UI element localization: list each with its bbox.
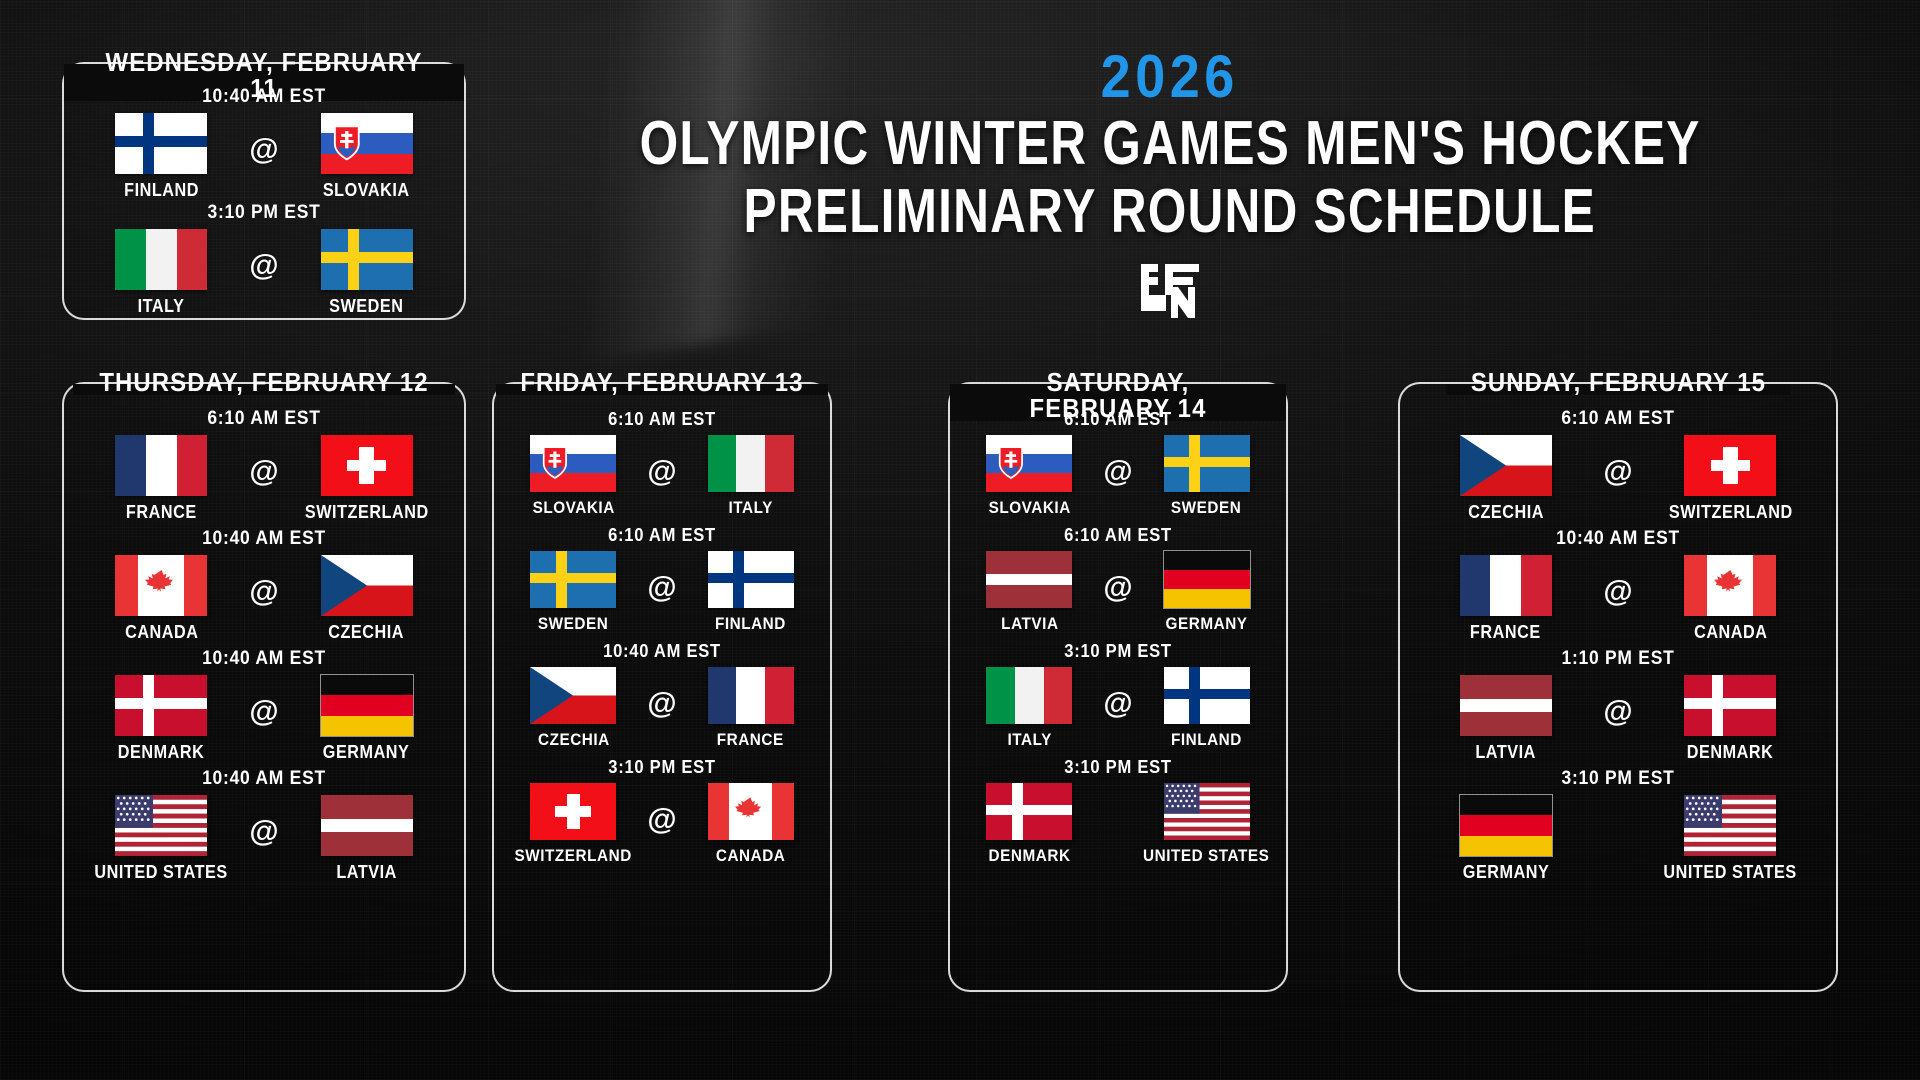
game-time: 1:10 PM EST bbox=[1427, 648, 1810, 670]
team-home[interactable]: CANADA bbox=[675, 783, 826, 866]
at-symbol-wrap: @ bbox=[1105, 435, 1131, 487]
at-symbol-wrap: @ bbox=[249, 675, 279, 727]
at-symbol-icon: @ bbox=[249, 457, 278, 487]
day-card-title-wrap: THURSDAY, FEBRUARY 12 bbox=[64, 384, 464, 395]
flag-denmark-icon bbox=[115, 675, 207, 736]
at-symbol-icon: @ bbox=[1603, 577, 1632, 607]
team-away[interactable]: FINLAND bbox=[74, 113, 249, 200]
team-name: SLOVAKIA bbox=[988, 498, 1070, 518]
game-time: 3:10 PM EST bbox=[89, 202, 439, 224]
at-symbol-icon: @ bbox=[249, 135, 278, 165]
game-time: 6:10 AM EST bbox=[967, 524, 1269, 546]
header: 2026 OLYMPIC WINTER GAMES MEN'S HOCKEY P… bbox=[460, 40, 1880, 310]
team-home[interactable]: SWEDEN bbox=[279, 229, 454, 316]
flag-finland-icon bbox=[708, 551, 794, 608]
at-symbol-wrap: @ bbox=[1105, 667, 1131, 719]
team-away[interactable]: GERMANY bbox=[1410, 795, 1601, 882]
matchup: CANADA@CZECHIA bbox=[74, 555, 454, 642]
flag-france-icon bbox=[708, 667, 794, 724]
at-symbol-icon: @ bbox=[1103, 457, 1132, 487]
day-card-body: 6:10 AM ESTCZECHIA@SWITZERLAND10:40 AM E… bbox=[1400, 384, 1836, 898]
flag-czechia-icon bbox=[530, 667, 616, 724]
game-row[interactable]: 3:10 PM ESTGERMANYUNITED STATES bbox=[1410, 768, 1826, 882]
team-name: LATVIA bbox=[336, 862, 397, 882]
matchup: FRANCE@CANADA bbox=[1410, 555, 1826, 642]
team-name: UNITED STATES bbox=[95, 862, 228, 882]
matchup: FRANCE@SWITZERLAND bbox=[74, 435, 454, 522]
flag-france-icon bbox=[1460, 555, 1552, 616]
flag-latvia-icon bbox=[986, 551, 1072, 608]
game-time: 3:10 PM EST bbox=[967, 756, 1269, 778]
team-away[interactable]: SLOVAKIA bbox=[954, 435, 1105, 518]
day-card-title: SUNDAY, FEBRUARY 15 bbox=[1470, 369, 1765, 395]
team-name: ITALY bbox=[1007, 730, 1051, 750]
flag-usa-icon bbox=[1164, 783, 1250, 840]
flag-latvia-icon bbox=[321, 795, 413, 856]
flag-italy-icon bbox=[986, 667, 1072, 724]
at-symbol-wrap bbox=[1105, 783, 1131, 805]
team-home[interactable]: ITALY bbox=[675, 435, 826, 518]
matchup: SLOVAKIA@ITALY bbox=[498, 435, 826, 518]
team-name: ITALY bbox=[728, 498, 772, 518]
at-symbol-wrap: @ bbox=[249, 435, 279, 487]
at-symbol-icon: @ bbox=[647, 805, 676, 835]
team-home[interactable]: DENMARK bbox=[1635, 675, 1826, 762]
game-row[interactable]: 10:40 AM ESTUNITED STATES@LATVIA bbox=[74, 768, 454, 882]
day-card-title-bg: FRIDAY, FEBRUARY 13 bbox=[496, 384, 828, 395]
day-card-wed: WEDNESDAY, FEBRUARY 1110:40 AM ESTFINLAN… bbox=[62, 62, 466, 320]
team-name: FRANCE bbox=[717, 730, 784, 750]
at-symbol-wrap: @ bbox=[649, 435, 675, 487]
team-name: SLOVAKIA bbox=[323, 180, 410, 200]
matchup: CZECHIA@FRANCE bbox=[498, 667, 826, 750]
day-card-body: 6:10 AM ESTSLOVAKIA@SWEDEN6:10 AM ESTLAT… bbox=[950, 384, 1286, 882]
team-name: FINLAND bbox=[124, 180, 199, 200]
at-symbol-wrap bbox=[1601, 795, 1634, 817]
day-card-title-wrap: SUNDAY, FEBRUARY 15 bbox=[1400, 384, 1836, 395]
game-row[interactable]: 3:10 PM ESTDENMARKUNITED STATES bbox=[954, 756, 1282, 866]
at-symbol-icon: @ bbox=[1603, 457, 1632, 487]
game-row[interactable]: 10:40 AM ESTFRANCE@CANADA bbox=[1410, 528, 1826, 642]
title-line-1: OLYMPIC WINTER GAMES MEN'S HOCKEY bbox=[640, 112, 1701, 176]
game-time: 3:10 PM EST bbox=[511, 756, 813, 778]
game-row[interactable]: 6:10 AM ESTFRANCE@SWITZERLAND bbox=[74, 408, 454, 522]
team-away[interactable]: DENMARK bbox=[74, 675, 249, 762]
team-away[interactable]: SWEDEN bbox=[498, 551, 649, 634]
flag-canada-icon bbox=[708, 783, 794, 840]
team-home[interactable]: CANADA bbox=[1635, 555, 1826, 642]
at-symbol-wrap: @ bbox=[1601, 435, 1634, 487]
team-away[interactable]: CZECHIA bbox=[1410, 435, 1601, 522]
at-symbol-icon: @ bbox=[1603, 697, 1632, 727]
team-name: SWEDEN bbox=[1171, 498, 1241, 518]
team-name: CZECHIA bbox=[538, 730, 610, 750]
year-label: 2026 bbox=[1101, 46, 1239, 108]
flag-denmark-icon bbox=[986, 783, 1072, 840]
matchup: FINLAND@SLOVAKIA bbox=[74, 113, 454, 200]
game-time: 10:40 AM EST bbox=[89, 528, 439, 550]
game-row[interactable]: 10:40 AM ESTCZECHIA@FRANCE bbox=[498, 640, 826, 750]
team-away[interactable]: UNITED STATES bbox=[74, 795, 249, 882]
game-row[interactable]: 1:10 PM ESTLATVIA@DENMARK bbox=[1410, 648, 1826, 762]
team-name: CZECHIA bbox=[1468, 502, 1544, 522]
at-symbol-icon: @ bbox=[249, 251, 278, 281]
flag-latvia-icon bbox=[1460, 675, 1552, 736]
matchup: UNITED STATES@LATVIA bbox=[74, 795, 454, 882]
team-name: ITALY bbox=[138, 296, 185, 316]
day-card-body: 6:10 AM ESTFRANCE@SWITZERLAND10:40 AM ES… bbox=[64, 384, 464, 898]
game-time: 10:40 AM EST bbox=[1427, 528, 1810, 550]
at-symbol-wrap: @ bbox=[249, 795, 279, 847]
matchup: LATVIA@DENMARK bbox=[1410, 675, 1826, 762]
team-name: LATVIA bbox=[1001, 614, 1058, 634]
team-away[interactable]: DENMARK bbox=[954, 783, 1105, 866]
flag-germany-icon bbox=[1164, 551, 1250, 608]
game-row[interactable]: 6:10 AM ESTCZECHIA@SWITZERLAND bbox=[1410, 408, 1826, 522]
day-card-title-bg: THURSDAY, FEBRUARY 12 bbox=[73, 384, 455, 395]
day-card-fri: FRIDAY, FEBRUARY 136:10 AM ESTSLOVAKIA@I… bbox=[492, 382, 832, 992]
flag-slovakia-icon bbox=[986, 435, 1072, 492]
team-away[interactable]: ITALY bbox=[74, 229, 249, 316]
game-time: 6:10 AM EST bbox=[511, 408, 813, 430]
flag-slovakia-icon bbox=[530, 435, 616, 492]
flag-switzerland-icon bbox=[1684, 435, 1776, 496]
flag-germany-icon bbox=[321, 675, 413, 736]
team-name: SWITZERLAND bbox=[1668, 502, 1792, 522]
game-time: 3:10 PM EST bbox=[1427, 768, 1810, 790]
team-home[interactable]: GERMANY bbox=[279, 675, 454, 762]
team-home[interactable]: SWITZERLAND bbox=[279, 435, 454, 522]
matchup: SWEDEN@FINLAND bbox=[498, 551, 826, 634]
matchup: CZECHIA@SWITZERLAND bbox=[1410, 435, 1826, 522]
team-home[interactable]: GERMANY bbox=[1131, 551, 1282, 634]
at-symbol-wrap: @ bbox=[249, 229, 279, 281]
matchup: GERMANYUNITED STATES bbox=[1410, 795, 1826, 882]
team-name: FRANCE bbox=[126, 502, 197, 522]
flag-canada-icon bbox=[1684, 555, 1776, 616]
title-line-2: PRELIMINARY ROUND SCHEDULE bbox=[744, 180, 1596, 244]
team-name: FINLAND bbox=[715, 614, 786, 634]
team-home[interactable]: FRANCE bbox=[675, 667, 826, 750]
team-name: SLOVAKIA bbox=[532, 498, 614, 518]
team-home[interactable]: FINLAND bbox=[675, 551, 826, 634]
game-time: 10:40 AM EST bbox=[89, 768, 439, 790]
game-time: 6:10 AM EST bbox=[1427, 408, 1810, 430]
flag-switzerland-icon bbox=[321, 435, 413, 496]
page-root: 2026 OLYMPIC WINTER GAMES MEN'S HOCKEY P… bbox=[0, 0, 1920, 1080]
team-name: DENMARK bbox=[118, 742, 205, 762]
flag-germany-icon bbox=[1460, 795, 1552, 856]
matchup: ITALY@SWEDEN bbox=[74, 229, 454, 316]
at-symbol-wrap: @ bbox=[1601, 675, 1634, 727]
team-away[interactable]: FRANCE bbox=[1410, 555, 1601, 642]
day-card-title: THURSDAY, FEBRUARY 12 bbox=[99, 369, 428, 395]
team-away[interactable]: CZECHIA bbox=[498, 667, 649, 750]
team-away[interactable]: CANADA bbox=[74, 555, 249, 642]
matchup: LATVIA@GERMANY bbox=[954, 551, 1282, 634]
flag-italy-icon bbox=[708, 435, 794, 492]
at-symbol-icon: @ bbox=[249, 817, 278, 847]
flag-czechia-icon bbox=[321, 555, 413, 616]
game-row[interactable]: 6:10 AM ESTLATVIA@GERMANY bbox=[954, 524, 1282, 634]
team-away[interactable]: LATVIA bbox=[954, 551, 1105, 634]
at-symbol-icon: @ bbox=[647, 689, 676, 719]
game-time: 6:10 AM EST bbox=[511, 524, 813, 546]
flag-sweden-icon bbox=[1164, 435, 1250, 492]
game-time: 10:40 AM EST bbox=[89, 648, 439, 670]
game-row[interactable]: 3:10 PM ESTITALY@SWEDEN bbox=[74, 202, 454, 316]
at-symbol-icon: @ bbox=[647, 573, 676, 603]
team-name: CANADA bbox=[716, 846, 786, 866]
at-symbol-wrap: @ bbox=[249, 113, 279, 165]
game-time: 10:40 AM EST bbox=[89, 86, 439, 108]
game-time: 6:10 AM EST bbox=[967, 408, 1269, 430]
at-symbol-wrap: @ bbox=[1601, 555, 1634, 607]
game-row[interactable]: 3:10 PM ESTSWITZERLAND@CANADA bbox=[498, 756, 826, 866]
team-home[interactable]: SWEDEN bbox=[1131, 435, 1282, 518]
team-name: GERMANY bbox=[323, 742, 410, 762]
flag-switzerland-icon bbox=[530, 783, 616, 840]
team-home[interactable]: SWITZERLAND bbox=[1635, 435, 1826, 522]
flag-denmark-icon bbox=[1684, 675, 1776, 736]
team-home[interactable]: CZECHIA bbox=[279, 555, 454, 642]
game-row[interactable]: 6:10 AM ESTSWEDEN@FINLAND bbox=[498, 524, 826, 634]
team-away[interactable]: FRANCE bbox=[74, 435, 249, 522]
game-row[interactable]: 6:10 AM ESTSLOVAKIA@ITALY bbox=[498, 408, 826, 518]
team-name: CANADA bbox=[1694, 622, 1767, 642]
matchup: DENMARKUNITED STATES bbox=[954, 783, 1282, 866]
team-away[interactable]: SLOVAKIA bbox=[498, 435, 649, 518]
matchup: DENMARK@GERMANY bbox=[74, 675, 454, 762]
matchup: SWITZERLAND@CANADA bbox=[498, 783, 826, 866]
team-name: SWITZERLAND bbox=[515, 846, 632, 866]
at-symbol-icon: @ bbox=[647, 457, 676, 487]
team-name: SWITZERLAND bbox=[305, 502, 429, 522]
matchup: ITALY@FINLAND bbox=[954, 667, 1282, 750]
flag-italy-icon bbox=[115, 229, 207, 290]
flag-sweden-icon bbox=[530, 551, 616, 608]
team-name: CZECHIA bbox=[329, 622, 405, 642]
at-symbol-wrap: @ bbox=[649, 667, 675, 719]
team-name: LATVIA bbox=[1475, 742, 1536, 762]
game-row[interactable]: 10:40 AM ESTFINLAND@SLOVAKIA bbox=[74, 86, 454, 200]
at-symbol-wrap: @ bbox=[649, 551, 675, 603]
team-name: FINLAND bbox=[1171, 730, 1242, 750]
day-card-title-wrap: FRIDAY, FEBRUARY 13 bbox=[494, 384, 830, 395]
team-name: GERMANY bbox=[1166, 614, 1248, 634]
team-home[interactable]: FINLAND bbox=[1131, 667, 1282, 750]
team-home[interactable]: SLOVAKIA bbox=[279, 113, 454, 200]
team-name: DENMARK bbox=[1687, 742, 1774, 762]
at-symbol-wrap: @ bbox=[649, 783, 675, 835]
team-name: CANADA bbox=[125, 622, 198, 642]
day-card-body: 6:10 AM ESTSLOVAKIA@ITALY6:10 AM ESTSWED… bbox=[494, 384, 830, 882]
game-time: 3:10 PM EST bbox=[967, 640, 1269, 662]
at-symbol-wrap: @ bbox=[1105, 551, 1131, 603]
day-card-title: FRIDAY, FEBRUARY 13 bbox=[520, 369, 803, 395]
team-away[interactable]: SWITZERLAND bbox=[498, 783, 649, 866]
team-name: UNITED STATES bbox=[1143, 846, 1269, 866]
flag-slovakia-icon bbox=[321, 113, 413, 174]
flag-finland-icon bbox=[115, 113, 207, 174]
team-home[interactable]: LATVIA bbox=[279, 795, 454, 882]
pfsn-logo bbox=[1137, 260, 1203, 322]
flag-finland-icon bbox=[1164, 667, 1250, 724]
day-card-sun: SUNDAY, FEBRUARY 156:10 AM ESTCZECHIA@SW… bbox=[1398, 382, 1838, 992]
at-symbol-icon: @ bbox=[249, 577, 278, 607]
team-name: DENMARK bbox=[988, 846, 1070, 866]
at-symbol-icon: @ bbox=[1103, 573, 1132, 603]
flag-sweden-icon bbox=[321, 229, 413, 290]
team-name: FRANCE bbox=[1470, 622, 1541, 642]
flag-czechia-icon bbox=[1460, 435, 1552, 496]
day-card-sat: SATURDAY, FEBRUARY 146:10 AM ESTSLOVAKIA… bbox=[948, 382, 1288, 992]
flag-france-icon bbox=[115, 435, 207, 496]
team-away[interactable]: LATVIA bbox=[1410, 675, 1601, 762]
at-symbol-icon: @ bbox=[1103, 689, 1132, 719]
game-time: 10:40 AM EST bbox=[511, 640, 813, 662]
game-time: 6:10 AM EST bbox=[89, 408, 439, 430]
day-card-thu: THURSDAY, FEBRUARY 126:10 AM ESTFRANCE@S… bbox=[62, 382, 466, 992]
team-name: UNITED STATES bbox=[1664, 862, 1797, 882]
game-row[interactable]: 6:10 AM ESTSLOVAKIA@SWEDEN bbox=[954, 408, 1282, 518]
team-home[interactable]: UNITED STATES bbox=[1635, 795, 1826, 882]
day-card-title-bg: SUNDAY, FEBRUARY 15 bbox=[1446, 384, 1791, 395]
day-card-body: 10:40 AM ESTFINLAND@SLOVAKIA3:10 PM ESTI… bbox=[64, 64, 464, 328]
game-row[interactable]: 10:40 AM ESTCANADA@CZECHIA bbox=[74, 528, 454, 642]
team-name: SWEDEN bbox=[538, 614, 608, 634]
flag-canada-icon bbox=[115, 555, 207, 616]
at-symbol-icon: @ bbox=[249, 697, 278, 727]
flag-usa-icon bbox=[115, 795, 207, 856]
game-row[interactable]: 10:40 AM ESTDENMARK@GERMANY bbox=[74, 648, 454, 762]
flag-usa-icon bbox=[1684, 795, 1776, 856]
at-symbol-wrap: @ bbox=[249, 555, 279, 607]
team-name: SWEDEN bbox=[329, 296, 403, 316]
team-away[interactable]: ITALY bbox=[954, 667, 1105, 750]
team-name: GERMANY bbox=[1462, 862, 1549, 882]
matchup: SLOVAKIA@SWEDEN bbox=[954, 435, 1282, 518]
team-home[interactable]: UNITED STATES bbox=[1131, 783, 1282, 866]
game-row[interactable]: 3:10 PM ESTITALY@FINLAND bbox=[954, 640, 1282, 750]
